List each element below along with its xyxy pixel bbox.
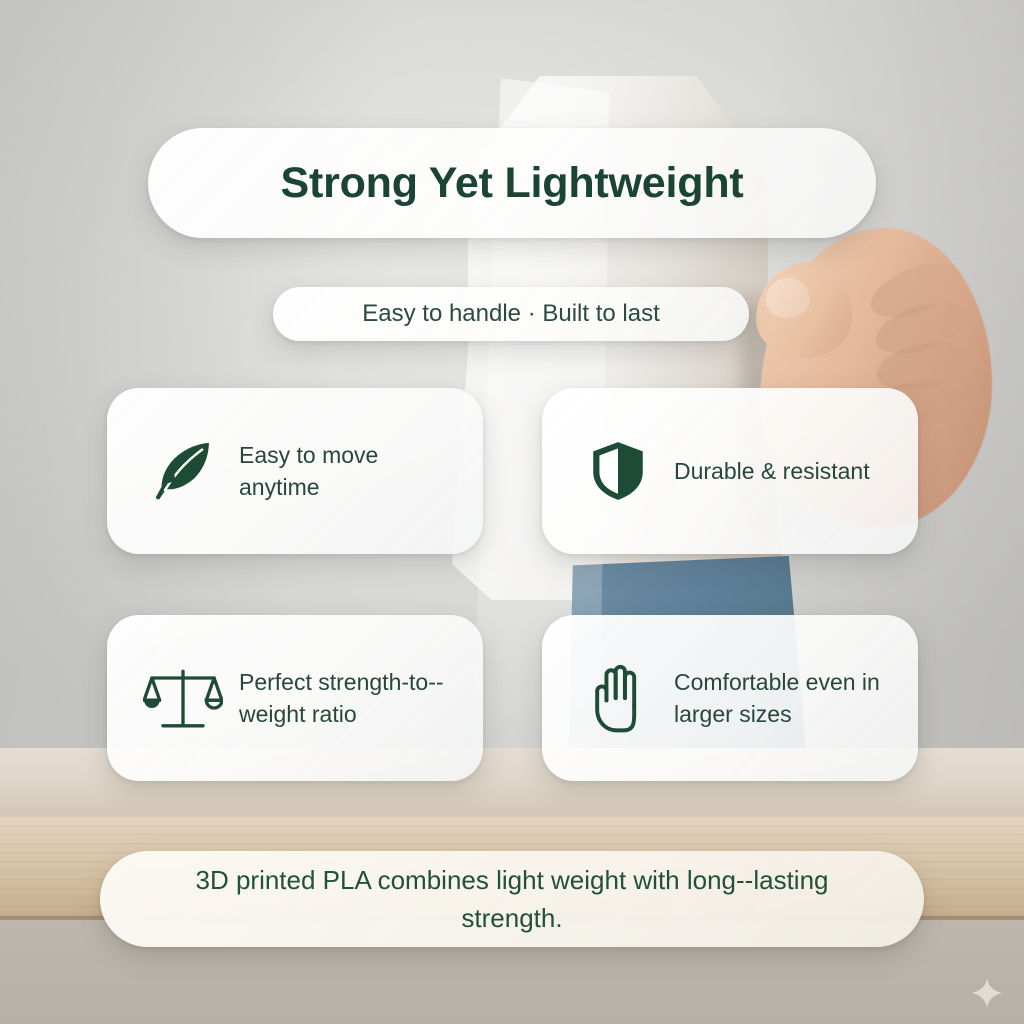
feature-label: Comfortable even in larger sizes: [674, 666, 889, 730]
feature-card-comfortable[interactable]: Comfortable even in larger sizes: [542, 615, 918, 781]
scales-icon: [141, 656, 225, 740]
feature-label: Easy to move anytime: [239, 439, 454, 503]
page-subtitle: Easy to handle · Built to last: [362, 300, 660, 328]
subtitle-banner: Easy to handle · Built to last: [273, 287, 749, 341]
feature-card-durable[interactable]: Durable & resistant: [542, 388, 918, 554]
shield-icon: [576, 429, 660, 513]
feature-card-strength-to-weight[interactable]: Perfect strength-to--weight ratio: [107, 615, 483, 781]
sparkle-icon: [972, 978, 1002, 1008]
feature-card-easy-to-move[interactable]: Easy to move anytime: [107, 388, 483, 554]
thumbnail: [766, 278, 810, 318]
footer-banner: 3D printed PLA combines light weight wit…: [100, 851, 924, 947]
feature-label: Durable & resistant: [674, 455, 870, 487]
page-title: Strong Yet Lightweight: [280, 159, 743, 208]
title-banner: Strong Yet Lightweight: [148, 128, 876, 238]
infographic-stage: Strong Yet Lightweight Easy to handle · …: [0, 0, 1024, 1024]
open-hand-icon: [576, 656, 660, 740]
footer-text: 3D printed PLA combines light weight wit…: [162, 861, 862, 937]
feature-label: Perfect strength-to--weight ratio: [239, 666, 454, 730]
feather-icon: [141, 429, 225, 513]
